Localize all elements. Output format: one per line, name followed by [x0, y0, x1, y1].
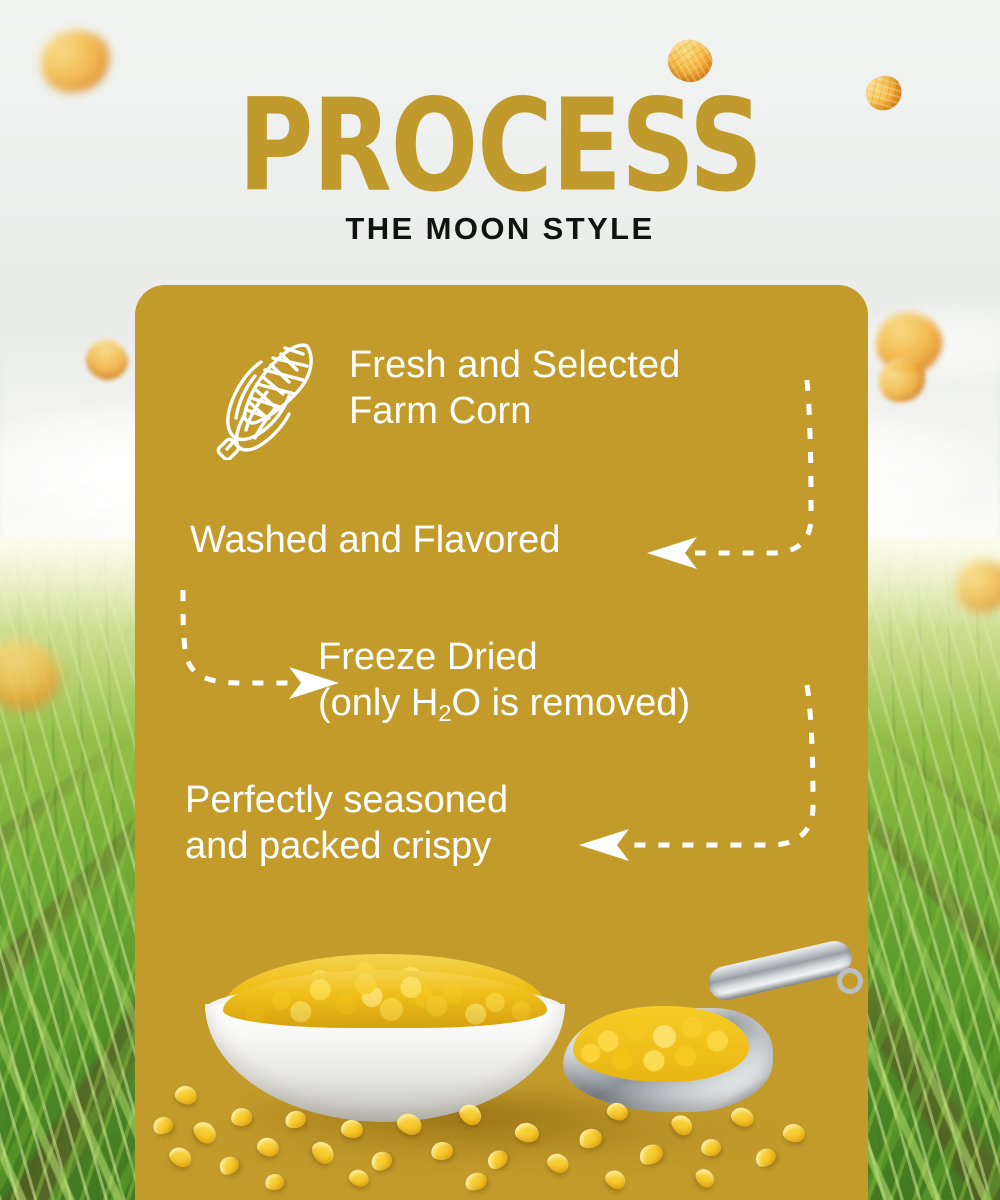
page-title: PROCESS — [0, 88, 1000, 205]
step-3-subscript: 2 — [438, 700, 451, 726]
infographic-canvas: PROCESS THE MOON STYLE — [0, 0, 1000, 1200]
corn-kernel — [605, 1101, 629, 1123]
corn-kernel — [514, 1121, 541, 1144]
step-4-line-2: and packed crispy — [185, 823, 508, 869]
header: PROCESS THE MOON STYLE — [0, 0, 1000, 247]
corn-kernel — [576, 1126, 604, 1152]
corn-kernel — [216, 1153, 242, 1179]
process-step-1: Fresh and Selected Farm Corn — [215, 330, 680, 460]
step-3-line-2: (only H2O is removed) — [318, 681, 690, 727]
step-3-suffix: O is removed) — [451, 682, 690, 724]
corn-kernel — [340, 1119, 363, 1138]
scoop-handle — [705, 938, 855, 1004]
step-1-line-1: Fresh and Selected — [349, 342, 680, 388]
process-step-4: Perfectly seasoned and packed crispy — [185, 777, 508, 870]
corn-kernel — [368, 1148, 395, 1174]
process-step-1-text: Fresh and Selected Farm Corn — [349, 330, 680, 435]
corn-kernel — [394, 1110, 425, 1138]
corn-kernel — [484, 1146, 511, 1173]
corn-snack-icon — [951, 556, 1000, 617]
corn-kernel — [729, 1105, 757, 1130]
corn-kernel — [456, 1100, 486, 1129]
process-step-3: Freeze Dried (only H2O is removed) — [318, 635, 690, 726]
step-1-line-2: Farm Corn — [349, 388, 680, 434]
corn-kernel — [150, 1114, 175, 1138]
process-step-2: Washed and Flavored — [190, 518, 560, 564]
corn-kernel — [283, 1108, 308, 1131]
corn-kernel — [752, 1145, 779, 1171]
step-3-line-1: Freeze Dried — [318, 635, 690, 681]
corn-kernel — [166, 1144, 195, 1171]
step-3-prefix: (only H — [318, 682, 438, 724]
corn-kernel — [173, 1084, 198, 1106]
corn-kernel — [190, 1118, 221, 1148]
product-photo — [135, 870, 868, 1200]
corn-kernel — [700, 1138, 722, 1157]
corn-kernel — [544, 1150, 572, 1176]
scattered-kernels — [135, 1050, 868, 1200]
corn-kernel — [347, 1167, 371, 1188]
corn-kernel — [429, 1140, 454, 1162]
corn-cob-icon — [215, 332, 325, 460]
corn-kernel — [692, 1165, 718, 1190]
corn-kernel — [668, 1111, 696, 1139]
corn-kernel — [255, 1135, 281, 1158]
step-2-line-1: Washed and Flavored — [190, 518, 560, 564]
corn-kernel — [263, 1172, 285, 1192]
corn-kernel — [230, 1107, 253, 1128]
corn-kernel — [636, 1140, 666, 1168]
corn-kernel — [308, 1137, 338, 1167]
corn-kernel — [463, 1169, 490, 1193]
process-card: Fresh and Selected Farm Corn Washed and … — [135, 285, 868, 1200]
corn-kernel — [782, 1123, 806, 1144]
corn-kernel — [602, 1167, 629, 1192]
step-4-line-1: Perfectly seasoned — [185, 777, 508, 823]
